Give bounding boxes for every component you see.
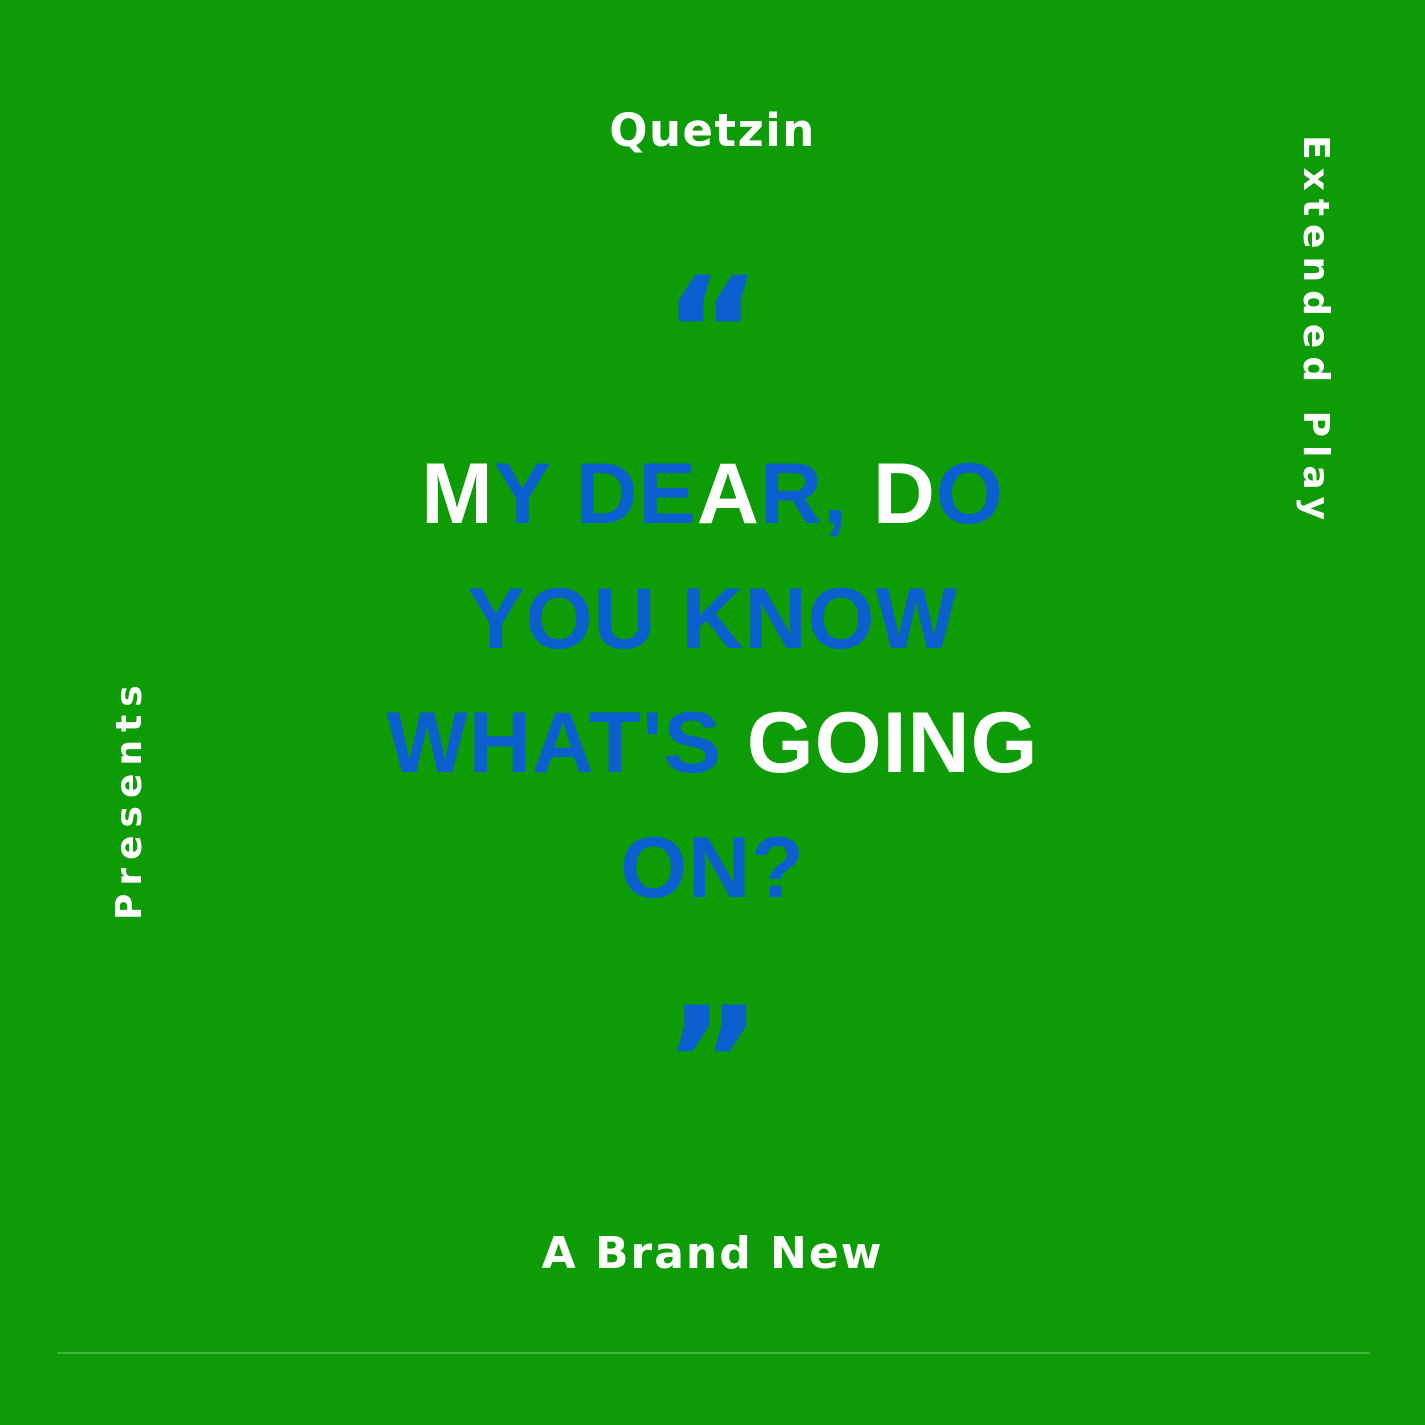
quote-segment: M <box>421 446 494 542</box>
quote-segment: A <box>697 446 760 542</box>
footer-tagline: A Brand New <box>0 1232 1425 1276</box>
quote-segment: R, <box>760 446 848 542</box>
quote-open-mark: “ <box>0 258 1425 408</box>
quote-segment: D <box>873 446 936 542</box>
left-vertical-label-text: Presents <box>112 620 148 920</box>
quote-segment: YOU KNOW <box>467 571 958 667</box>
quote-segment: ON? <box>620 820 805 916</box>
quote-line: WHAT'S GOING <box>240 681 1185 806</box>
footer-divider <box>57 1352 1370 1354</box>
quote-segment <box>551 446 576 542</box>
quote-segment: Y <box>494 446 551 542</box>
quote-line: ON? <box>240 806 1185 931</box>
artist-name: Quetzin <box>0 108 1425 153</box>
poster-canvas: Quetzin Presents Extended Play “ MY DEAR… <box>0 0 1425 1425</box>
quote-line: YOU KNOW <box>240 557 1185 682</box>
quote-segment <box>848 446 873 542</box>
quote-line: MY DEAR, DO <box>240 432 1185 557</box>
quote-text: MY DEAR, DOYOU KNOWWHAT'S GOINGON? <box>240 432 1185 931</box>
quote-segment: O <box>936 446 1004 542</box>
quote-segment: WHAT'S <box>387 695 747 791</box>
quote-close-mark: ” <box>0 988 1425 1138</box>
quote-segment: DE <box>575 446 696 542</box>
quote-segment: GOING <box>747 695 1039 791</box>
